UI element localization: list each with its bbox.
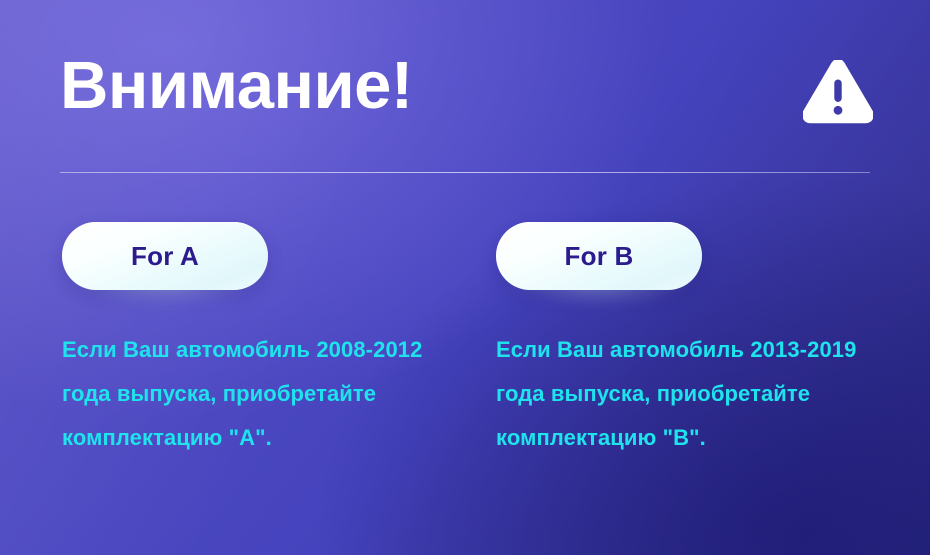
option-column-a: For A Если Ваш автомобиль 2008-2012 года… bbox=[62, 222, 482, 460]
warning-banner: Внимание! For A Если Ваш автомобиль 2008… bbox=[0, 0, 930, 555]
option-column-b: For B Если Ваш автомобиль 2013-2019 года… bbox=[496, 222, 916, 460]
warning-triangle-icon bbox=[803, 60, 873, 125]
for-b-button[interactable]: For B bbox=[496, 222, 702, 290]
for-b-button-wrap: For B bbox=[496, 222, 702, 290]
header-divider bbox=[60, 172, 870, 173]
for-a-button[interactable]: For A bbox=[62, 222, 268, 290]
option-b-description: Если Ваш автомобиль 2013-2019 года выпус… bbox=[496, 290, 896, 460]
for-a-button-wrap: For A bbox=[62, 222, 268, 290]
option-a-description: Если Ваш автомобиль 2008-2012 года выпус… bbox=[62, 290, 462, 460]
page-title: Внимание! bbox=[60, 52, 413, 119]
